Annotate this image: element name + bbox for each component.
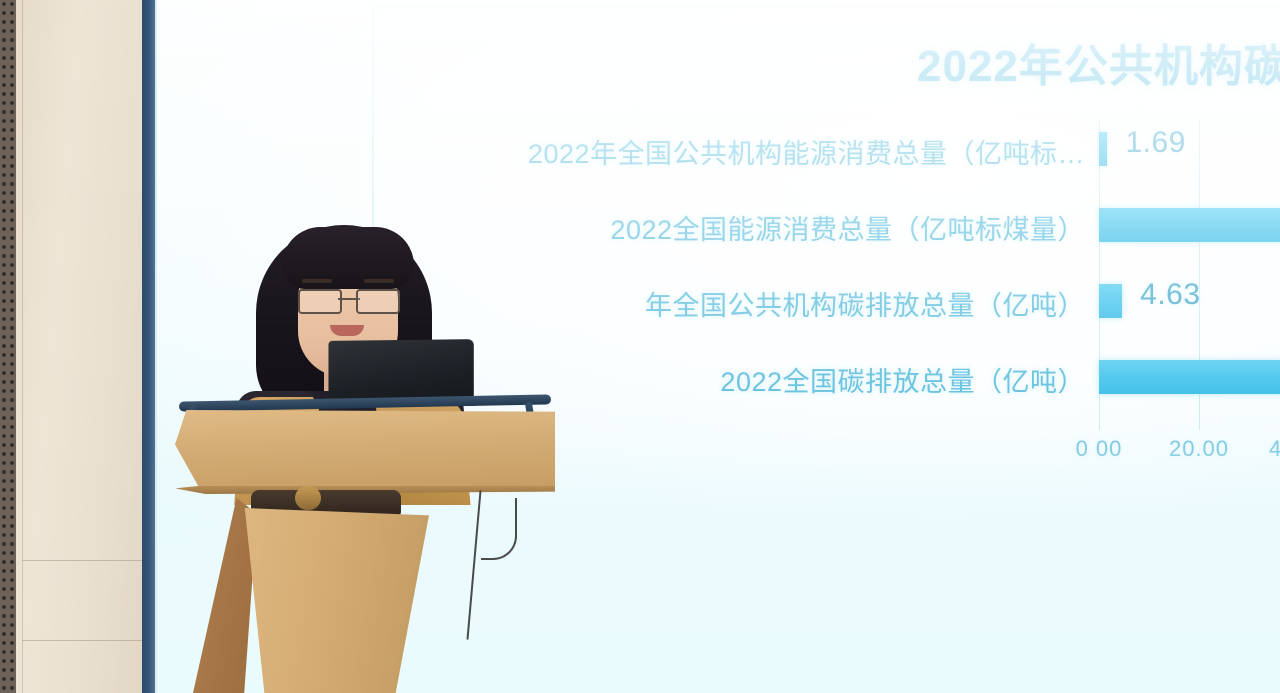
bar	[1099, 132, 1107, 166]
cable-loop	[481, 498, 517, 560]
x-axis-tick-label: 40.00	[1269, 436, 1280, 462]
bar-category-label: 年全国公共机构碳排放总量（亿吨）	[645, 284, 1099, 323]
presenter-eyebrow-right	[364, 279, 394, 283]
glasses-lens-right	[356, 289, 400, 314]
bar-value-label: 1.69	[1125, 126, 1185, 160]
bar-category-label: 2022全国能源消费总量（亿吨标煤量）	[610, 208, 1099, 247]
podium-desktop	[175, 410, 555, 492]
bar-category-label: 2022年全国公共机构能源消费总量（亿吨标…	[528, 132, 1099, 171]
chart-row: 年全国公共机构碳排放总量（亿吨）4.63	[387, 272, 1280, 348]
microphone-icon	[295, 486, 321, 510]
podium	[175, 398, 555, 693]
bar	[1099, 360, 1280, 394]
podium-column	[233, 508, 429, 693]
chart-row: 2022年全国公共机构能源消费总量（亿吨标…1.69	[387, 120, 1280, 196]
laptop-screen	[328, 339, 473, 403]
bar-value-label: 4.63	[1140, 278, 1200, 312]
x-axis-tick-label: 0 00	[1076, 436, 1123, 462]
bar	[1099, 284, 1122, 318]
wall-panel-seam-1	[22, 560, 142, 561]
slide-title: 2022年公共机构碳排放量	[917, 30, 1280, 94]
glasses-lens-left	[298, 289, 342, 314]
cable	[466, 490, 481, 640]
bar	[1099, 208, 1280, 242]
x-axis-tick-label: 20.00	[1169, 436, 1229, 462]
wall-panel-seam-2	[22, 640, 142, 641]
screenshot-stage: 2022年公共机构碳排放量 2022年全国公共机构能源消费总量（亿吨标…1.69…	[0, 0, 1280, 693]
acoustic-wall-panel	[0, 0, 16, 693]
wall-panel-seam-vertical	[22, 0, 23, 693]
wall-panel	[16, 0, 142, 693]
presenter-eyebrow-left	[302, 279, 332, 283]
bar-category-label: 2022全国碳排放总量（亿吨）	[720, 360, 1099, 399]
chart-x-axis: 0 0020.0040.0060.00	[1099, 436, 1280, 470]
chart-row: 2022全国能源消费总量（亿吨标煤量）54.	[387, 196, 1280, 272]
glasses-icon	[298, 289, 400, 311]
